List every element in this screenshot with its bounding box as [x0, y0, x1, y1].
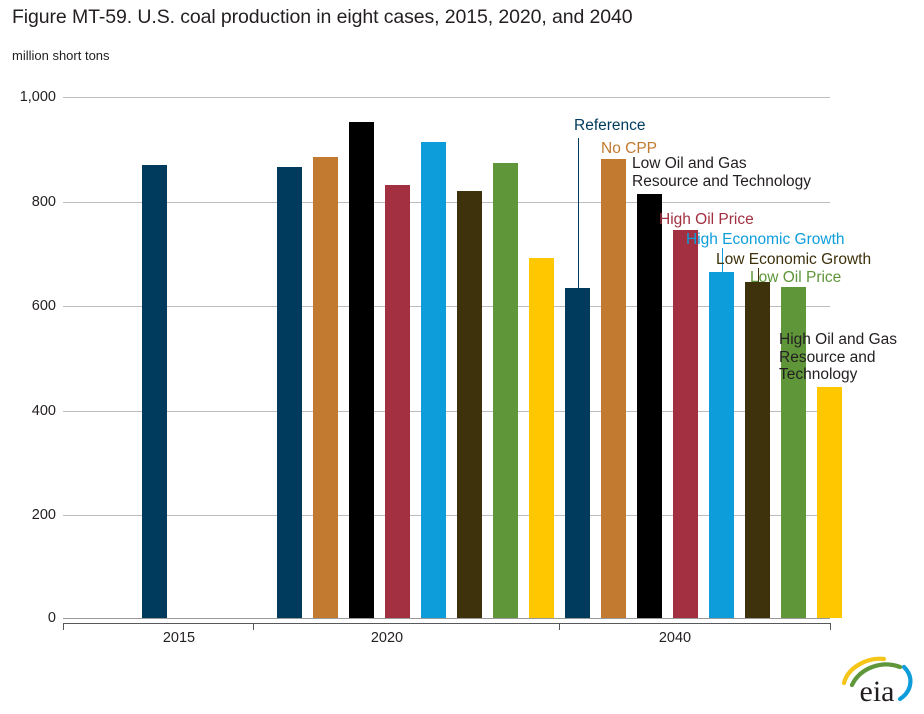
plot-area: 1,0008006004002000 201520202040 Referenc… [0, 0, 924, 714]
bar-2020-low-oil-gas-resource[interactable] [349, 122, 374, 618]
bar-2020-low-oil-price[interactable] [493, 163, 518, 618]
x-axis-tick [830, 623, 831, 630]
y-axis-tick-label: 800 [4, 194, 56, 210]
callout-low-oil-gas-resource: Low Oil and Gas Resource and Technology [632, 155, 811, 190]
callout-low-econ-growth: Low Economic Growth [716, 251, 871, 269]
callout-high-econ-growth: High Economic Growth [686, 231, 845, 249]
callout-high-oil-gas-resource: High Oil and Gas Resource and Technology [779, 331, 897, 384]
bar-2020-high-oil-gas-resource[interactable] [529, 258, 554, 618]
gridline [63, 618, 830, 619]
callout-reference: Reference [574, 117, 646, 135]
bar-2020-no-cpp[interactable] [313, 157, 338, 618]
x-axis-group-label-2020: 2020 [327, 630, 447, 646]
callout-high-oil-price: High Oil Price [659, 211, 754, 229]
y-axis-tick-label: 400 [4, 403, 56, 419]
bar-2040-reference[interactable] [565, 288, 590, 618]
x-axis-tick [63, 623, 64, 630]
bar-2040-no-cpp[interactable] [601, 159, 626, 618]
x-axis-group-label-2015: 2015 [119, 630, 239, 646]
gridline [63, 202, 830, 203]
bar-2040-high-oil-gas-resource[interactable] [817, 387, 842, 618]
bar-2015-reference[interactable] [142, 165, 167, 618]
x-axis-group-label-2040: 2040 [615, 630, 735, 646]
y-axis-tick-label: 600 [4, 298, 56, 314]
eia-logo: eia [838, 655, 916, 707]
y-axis-tick-label: 200 [4, 507, 56, 523]
gridline [63, 97, 830, 98]
y-axis-tick-label: 0 [4, 610, 56, 626]
figure-root: Figure MT-59. U.S. coal production in ei… [0, 0, 924, 714]
y-axis-tick-label: 1,000 [4, 89, 56, 105]
eia-logo-text: eia [860, 675, 895, 707]
bar-2020-reference[interactable] [277, 167, 302, 618]
bar-2020-high-oil-price[interactable] [385, 185, 410, 618]
x-axis-line [63, 623, 831, 624]
bar-2040-high-econ-growth[interactable] [709, 272, 734, 618]
x-axis-tick [253, 623, 254, 630]
bar-2020-high-econ-growth[interactable] [421, 142, 446, 618]
bar-2040-low-econ-growth[interactable] [745, 282, 770, 618]
bar-2040-high-oil-price[interactable] [673, 230, 698, 618]
callout-reference-leader-line [578, 138, 579, 288]
x-axis-tick [559, 623, 560, 630]
bar-2040-low-oil-gas-resource[interactable] [637, 194, 662, 618]
callout-low-oil-price: Low Oil Price [750, 269, 841, 287]
bar-2020-low-econ-growth[interactable] [457, 191, 482, 618]
